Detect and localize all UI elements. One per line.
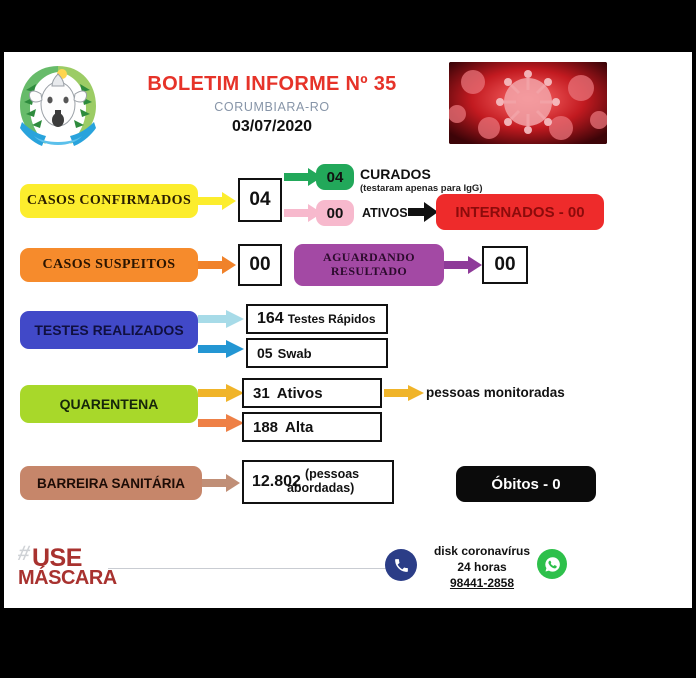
testes-realizados-label: TESTES REALIZADOS [34, 322, 183, 338]
arrow-suspeitos-to-value [198, 256, 238, 274]
quarentena-ativos-box: 31 Ativos [242, 378, 382, 408]
internados-label: INTERNADOS - 00 [455, 204, 584, 221]
bulletin-date: 03/07/2020 [122, 118, 422, 136]
confirmed-total-box: 04 [238, 178, 282, 222]
barreira-value-box: 12.802 (pessoas abordadas) [242, 460, 394, 504]
ativos-value: 00 [327, 205, 344, 222]
casos-suspeitos-pill: CASOS SUSPEITOS [20, 248, 198, 282]
swab-box: 05 Swab [246, 338, 388, 368]
arrow-testes-to-swab [198, 340, 244, 358]
disk-line1: disk coronavírus [422, 543, 542, 559]
testes-rapidos-box: 164 Testes Rápidos [246, 304, 388, 334]
barreira-sanitaria-pill: BARREIRA SANITÁRIA [20, 466, 202, 500]
obitos-label: Óbitos - 0 [491, 476, 560, 493]
suspected-value: 00 [249, 254, 270, 276]
coronavirus-particle-image [449, 62, 607, 144]
barreira-note-line1: (pessoas [305, 468, 359, 482]
barreira-sanitaria-label: BARREIRA SANITÁRIA [37, 476, 185, 491]
internados-box: INTERNADOS - 00 [436, 194, 604, 230]
disk-phone-number: 98441-2858 [422, 575, 542, 591]
curados-value: 04 [327, 169, 344, 186]
curados-note: (testaram apenas para IgG) [360, 183, 483, 194]
casos-confirmados-label: CASOS CONFIRMADOS [27, 193, 191, 209]
arrow-ativos-to-internados [408, 202, 438, 222]
curados-value-box: 04 [316, 164, 354, 190]
quarentena-alta-name: Alta [285, 419, 313, 436]
poster-stage: BOLETIM INFORME Nº 35 CORUMBIARA-RO 03/0… [0, 0, 696, 678]
testes-rapidos-name: Testes Rápidos [288, 312, 376, 326]
quarentena-ativos-name: Ativos [277, 385, 323, 402]
arrow-testes-to-rapidos [198, 310, 244, 328]
casos-confirmados-pill: CASOS CONFIRMADOS [20, 184, 198, 218]
arrow-quarentena-to-ativos [198, 384, 244, 402]
casos-suspeitos-label: CASOS SUSPEITOS [43, 257, 176, 273]
bulletin-poster: BOLETIM INFORME Nº 35 CORUMBIARA-RO 03/0… [4, 52, 692, 608]
pessoas-monitoradas-note: pessoas monitoradas [426, 385, 565, 400]
arrow-quarentena-to-alta [198, 414, 244, 432]
quarentena-pill: QUARENTENA [20, 385, 198, 423]
disk-line2: 24 horas [422, 559, 542, 575]
arrow-ativos-to-monitoradas [384, 385, 424, 401]
quarentena-alta-box: 188 Alta [242, 412, 382, 442]
barreira-note-line2: abordadas) [287, 482, 359, 496]
curados-label: CURADOS [360, 166, 431, 182]
awaiting-value: 00 [494, 254, 515, 276]
footer-divider [108, 568, 386, 569]
phone-handset-icon [385, 549, 417, 581]
corumbiara-coat-of-arms-bull-icon [12, 60, 104, 150]
quarentena-alta-count: 188 [253, 419, 278, 436]
barreira-note: (pessoas abordadas) [305, 468, 359, 496]
obitos-box: Óbitos - 0 [456, 466, 596, 502]
awaiting-value-box: 00 [482, 246, 528, 284]
disk-coronavirus-info: disk coronavírus 24 horas 98441-2858 [422, 543, 542, 592]
whatsapp-icon [537, 549, 567, 579]
hashtag-icon: # [15, 542, 32, 566]
arrow-confirmados-to-total [198, 192, 238, 210]
swab-count: 05 [257, 345, 273, 361]
testes-rapidos-count: 164 [257, 310, 284, 328]
testes-realizados-pill: TESTES REALIZADOS [20, 311, 198, 349]
ativos-value-box: 00 [316, 200, 354, 226]
swab-name: Swab [278, 346, 312, 361]
aguardando-resultado-pill: AGUARDANDO RESULTADO [294, 244, 444, 286]
arrow-aguardando-to-value [444, 256, 484, 274]
confirmed-total-value: 04 [249, 189, 270, 211]
ativos-label: ATIVOS [362, 206, 408, 220]
page-title: BOLETIM INFORME Nº 35 [122, 74, 422, 95]
suspected-value-box: 00 [238, 244, 282, 286]
city-subtitle: CORUMBIARA-RO [122, 100, 422, 114]
use-mascara-line2: MÁSCARA [18, 567, 117, 590]
aguardando-resultado-label: AGUARDANDO RESULTADO [294, 251, 444, 279]
arrow-barreira-to-value [202, 474, 242, 492]
quarentena-ativos-count: 31 [253, 385, 270, 402]
quarentena-label: QUARENTENA [60, 396, 159, 412]
title-block: BOLETIM INFORME Nº 35 CORUMBIARA-RO 03/0… [122, 74, 422, 136]
